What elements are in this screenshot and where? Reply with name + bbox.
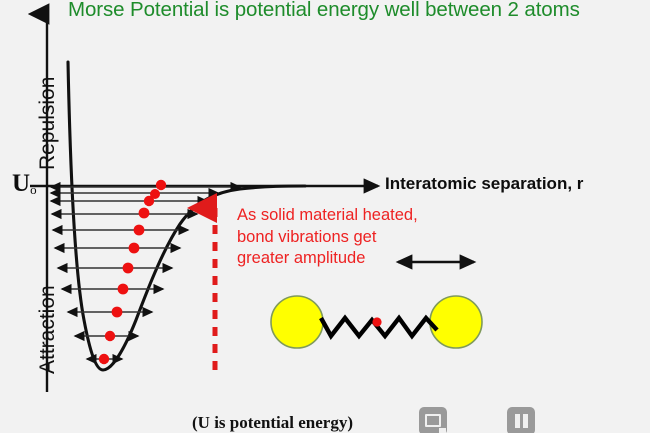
annotation-line-1: As solid material heated, — [237, 205, 418, 227]
bond-center-dot — [372, 317, 381, 326]
slide-canvas: Morse Potential is potential energy well… — [0, 0, 650, 433]
y-axis-label-attraction: Attraction — [36, 285, 60, 374]
annotation-line-2: bond vibrations get — [237, 227, 418, 249]
u-subscript: o — [30, 182, 37, 197]
pause-bar-right — [523, 414, 528, 428]
annotation-text: As solid material heated, bond vibration… — [237, 205, 418, 270]
picture-in-picture-icon[interactable] — [419, 407, 447, 433]
pause-bar-left — [515, 414, 520, 428]
pause-icon[interactable] — [507, 407, 535, 433]
pip-inner-frame — [439, 428, 446, 433]
footnote-text: (U is potential energy) — [192, 413, 353, 433]
left-atom — [271, 296, 323, 348]
molecule-diagram — [271, 296, 482, 348]
y-axis-label-repulsion: Repulsion — [36, 77, 60, 170]
right-atom — [430, 296, 482, 348]
pip-outer-frame — [425, 414, 441, 427]
u-symbol: U — [12, 170, 30, 197]
y-axis-zero-label: Uo — [12, 170, 37, 198]
x-axis-label: Interatomic separation, r — [385, 174, 583, 194]
annotation-line-3: greater amplitude — [237, 248, 418, 270]
